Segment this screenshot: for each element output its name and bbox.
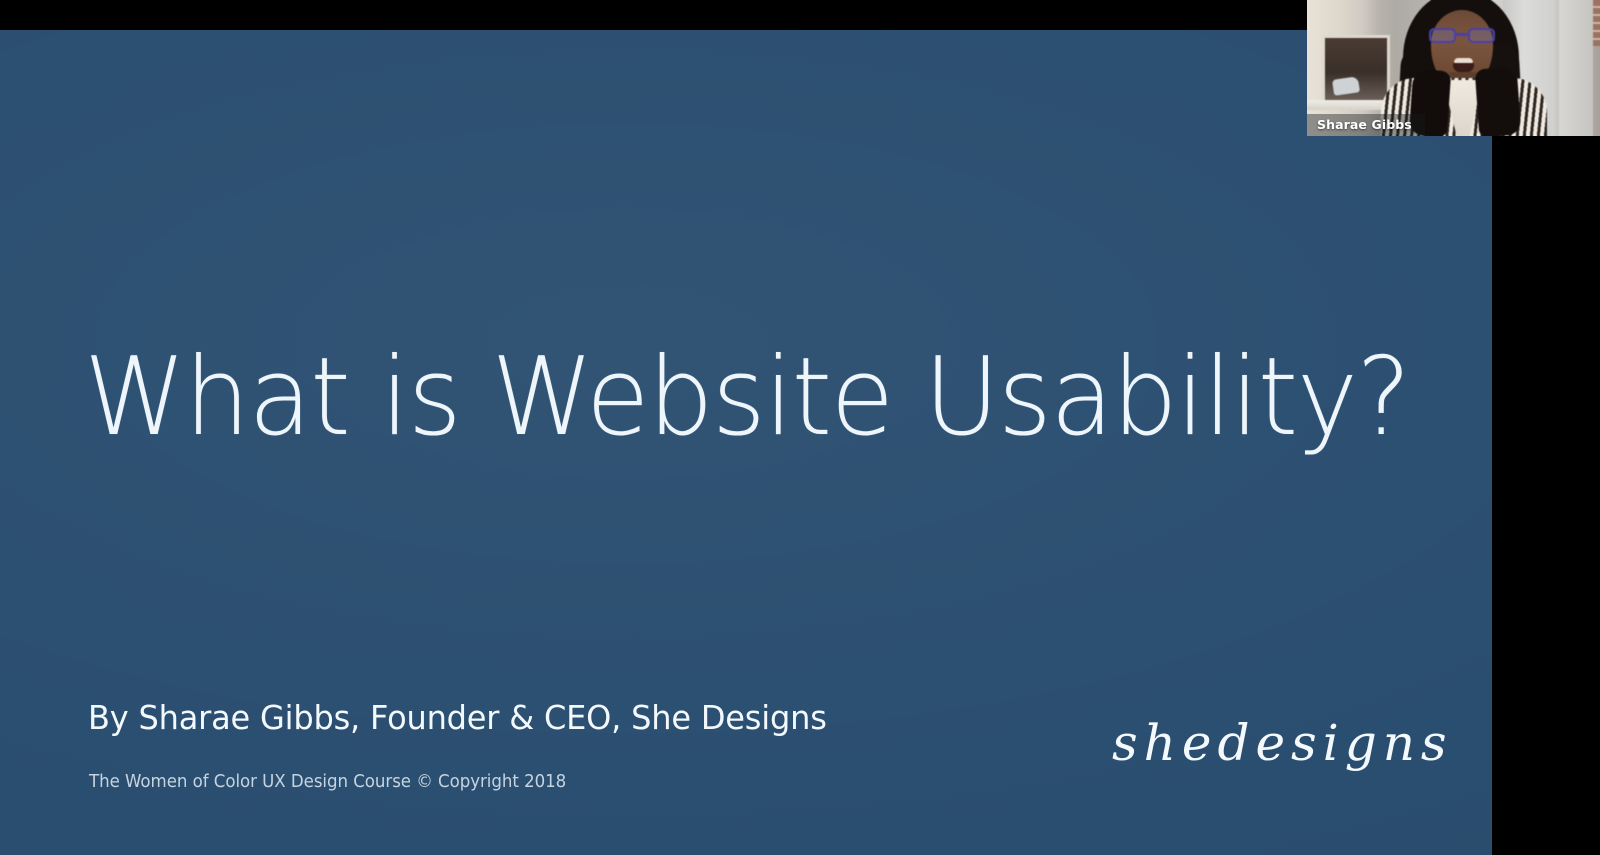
wall-column-right — [1559, 0, 1593, 136]
shedesigns-logo: shedesigns — [1112, 718, 1453, 768]
participant-name-label: Sharae Gibbs — [1307, 114, 1425, 136]
slide-copyright: The Women of Color UX Design Course © Co… — [89, 772, 566, 793]
eyeglasses-left-lens — [1429, 28, 1456, 43]
speaker-hair-front-right — [1475, 67, 1522, 136]
slide-title: What is Website Usability? — [84, 342, 1410, 454]
speaker-teeth — [1454, 58, 1473, 63]
video-call-stage: What is Website Usability? By Sharae Gib… — [0, 0, 1600, 855]
presentation-slide[interactable]: What is Website Usability? By Sharae Gib… — [0, 30, 1492, 855]
webcam-video-tile[interactable]: Sharae Gibbs — [1307, 0, 1600, 136]
eyeglasses-right-lens — [1468, 28, 1495, 43]
slide-byline: By Sharae Gibbs, Founder & CEO, She Desi… — [88, 699, 827, 737]
eyeglasses-icon — [1429, 28, 1495, 43]
eyeglasses-bridge — [1456, 33, 1468, 36]
